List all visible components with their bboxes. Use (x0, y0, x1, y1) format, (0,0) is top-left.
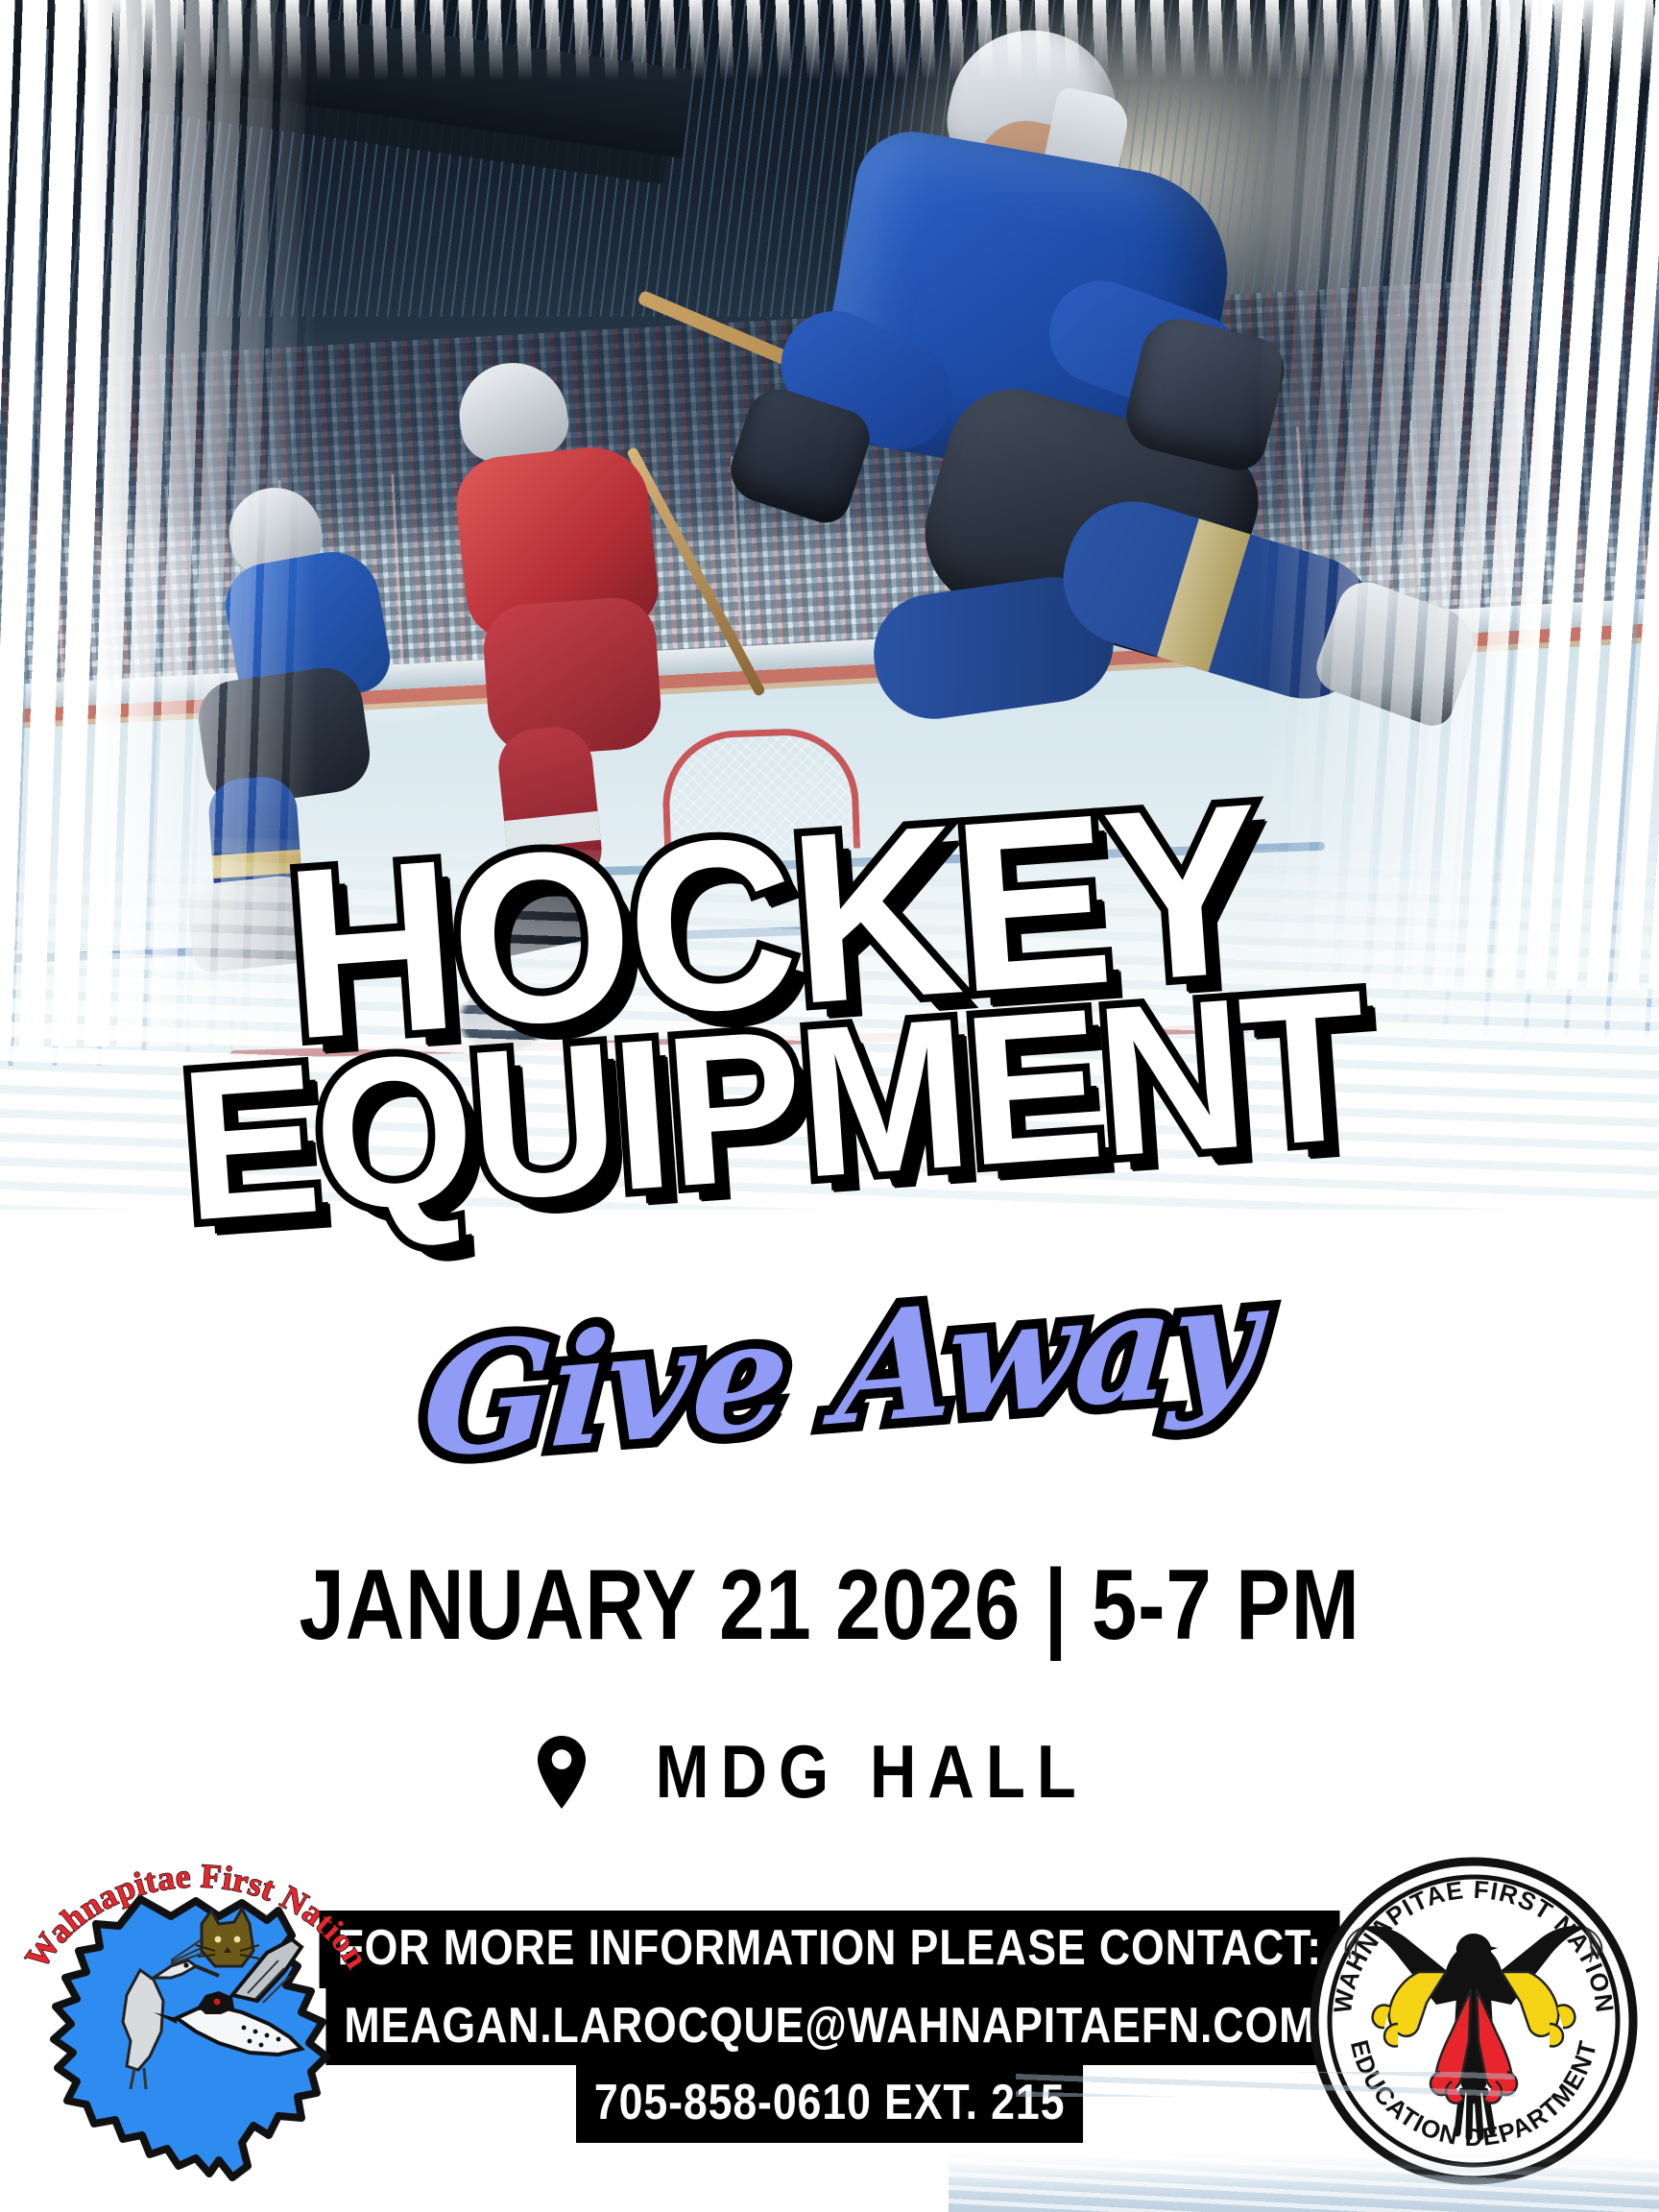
foreground-skater (730, 10, 1459, 922)
ice-texture-bottom (949, 2145, 1659, 2212)
poster-canvas: HOCKEY EQUIPMENT Give Away JANUARY 21 20… (0, 0, 1659, 2212)
title-script-give-away: Give Away (419, 1248, 1262, 1493)
contact-email[interactable]: MEAGAN.LAROCQUE@WAHNAPITAEFN.COM (325, 1988, 1334, 2066)
ice-texture-bottom-wisp (1016, 2072, 1515, 2097)
hockey-puck (461, 989, 543, 1052)
event-date-time: JANUARY 21 2026 | 5-7 PM (150, 1555, 1510, 1655)
skate (186, 874, 318, 974)
event-location: MDG HALL (0, 1728, 1659, 1815)
hockey-photo (0, 0, 1659, 1210)
contact-phone[interactable]: 705-858-0610 EXT. 215 (576, 2065, 1083, 2143)
location-name: MDG HALL (656, 1728, 1088, 1815)
logo-left-arc-label: Wahnapitae First Nation (18, 1857, 376, 1975)
wahnapitae-first-nation-logo: Wahnapitae First Nation (10, 1853, 384, 2199)
contact-heading: FOR MORE INFORMATION PLEASE CONTACT: (319, 1911, 1339, 1988)
logo-arc-text: Wahnapitae First Nation (10, 1853, 384, 2016)
map-pin-icon (536, 1736, 588, 1809)
education-department-seal: WAHNAPITAE FIRST NATION EDUCATION DEPART… (1306, 1853, 1642, 2189)
red-skater (403, 422, 749, 941)
